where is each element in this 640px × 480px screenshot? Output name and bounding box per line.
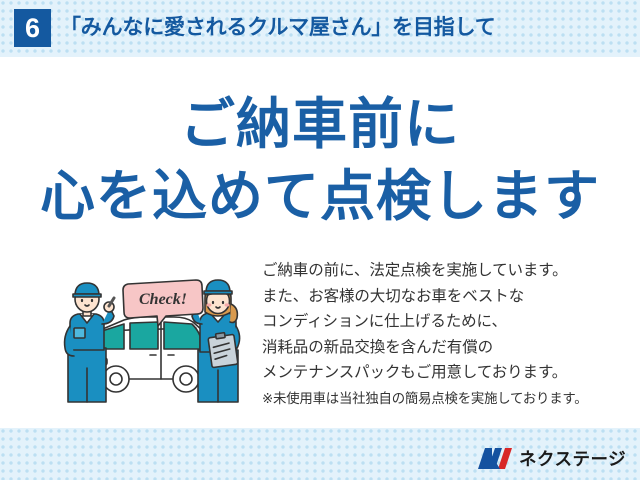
body-note: ※未使用車は当社独自の簡易点検を実施しております。 [262,387,634,411]
promo-banner: 6 「みんなに愛されるクルマ屋さん」を目指して ご納車前に 心を込めて点検します… [0,0,640,480]
headline-line-1: ご納車前に [0,88,640,160]
body-line: また、お客様の大切なお車をベストな [262,284,634,310]
body-copy: ご納車の前に、法定点検を実施しています。 また、お客様の大切なお車をベストな コ… [262,258,634,411]
nextage-n-mark-icon [478,448,512,470]
check-bubble-label: Check! [139,291,187,308]
body-line: 消耗品の新品交換を含んだ有償の [262,335,634,361]
body-line: ご納車の前に、法定点検を実施しています。 [262,258,634,284]
brand-logo: ネクステージ [478,446,626,472]
mechanics-illustration: Check! [62,276,247,404]
header-title: 「みんなに愛されるクルマ屋さん」を目指して [60,13,496,43]
brand-name: ネクステージ [519,446,626,472]
section-number-badge: 6 [14,9,51,47]
headline: ご納車前に 心を込めて点検します [0,88,640,232]
headline-line-2: 心を込めて点検します [0,160,640,232]
body-line: コンディションに仕上げるために、 [262,309,634,335]
body-line: メンテナンスパックもご用意しております。 [262,360,634,386]
